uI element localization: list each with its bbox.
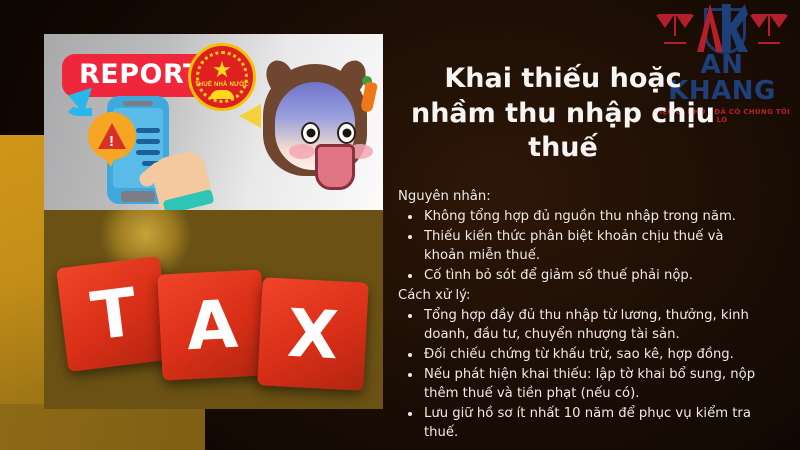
scale-pan — [770, 15, 788, 28]
gold-accent-bar-left — [0, 135, 44, 450]
character-pupil — [342, 129, 351, 138]
tax-declaration-illustration: REPORT ★ THUẾ NHÀ NƯỚC ! — [44, 34, 383, 210]
solutions-list: Tổng hợp đầy đủ thu nhập từ lương, thưởn… — [398, 307, 758, 442]
scale-pan — [750, 15, 768, 28]
slide-canvas: REPORT ★ THUẾ NHÀ NƯỚC ! — [0, 0, 800, 450]
solutions-heading: Cách xử lý: — [398, 287, 758, 306]
page-title: Khai thiếu hoặc nhầm thu nhập chịu thuế — [398, 62, 728, 166]
causes-list: Không tổng hợp đủ nguồn thu nhập trong n… — [398, 208, 758, 286]
character-face — [275, 82, 355, 170]
character-eye-left — [301, 122, 320, 144]
causes-heading: Nguyên nhân: — [398, 188, 758, 207]
illustration-panel: REPORT ★ THUẾ NHÀ NƯỚC ! — [44, 34, 383, 409]
list-item: Tổng hợp đầy đủ thu nhập từ lương, thưởn… — [422, 307, 758, 345]
warning-exclamation: ! — [109, 134, 114, 149]
character-open-mouth — [315, 144, 355, 190]
scales-of-justice-left-icon — [658, 10, 692, 48]
tax-block-letter: T — [56, 256, 172, 372]
warning-alert-icon: ! — [88, 112, 136, 160]
list-item: Lưu giữ hồ sơ ít nhất 10 năm để phục vụ … — [422, 405, 758, 443]
scales-of-justice-right-icon — [752, 10, 786, 48]
shock-spark-icon — [239, 104, 261, 128]
emblem-label: THUẾ NHÀ NƯỚC — [191, 82, 253, 88]
phone-home-button — [121, 191, 155, 202]
hand-sleeve-cuff — [163, 189, 215, 210]
content-body: Nguyên nhân: Không tổng hợp đủ nguồn thu… — [398, 188, 758, 443]
tax-block-letter: X — [257, 277, 369, 390]
tax-blocks-photo: T A X — [44, 210, 383, 409]
document-line — [136, 139, 160, 144]
character-pupil — [306, 129, 315, 138]
warning-bubble-tail — [102, 155, 116, 167]
scale-pan — [676, 15, 694, 28]
logo-mark — [652, 4, 792, 54]
character-eye-right — [337, 122, 356, 144]
scale-base — [664, 42, 686, 44]
list-item: Đối chiếu chứng từ khấu trừ, sao kê, hợp… — [422, 346, 758, 365]
list-item: Thiếu kiến thức phân biệt khoản chịu thu… — [422, 228, 758, 266]
scale-base — [758, 42, 780, 44]
list-item: Nếu phát hiện khai thiếu: lập tờ khai bổ… — [422, 366, 758, 404]
scale-post — [674, 14, 676, 36]
scale-pan — [656, 15, 674, 28]
shocked-character-illustration — [253, 64, 379, 210]
list-item: Cố tình bỏ sót để giảm số thuế phải nộp. — [422, 267, 758, 286]
character-blush-left — [289, 144, 315, 159]
carrot-icon — [360, 81, 378, 113]
document-line — [136, 150, 160, 155]
emblem-gear-icon — [210, 90, 234, 99]
emblem-star-icon: ★ — [212, 59, 232, 81]
gold-accent-bar-bottom — [0, 404, 205, 450]
scale-post — [768, 14, 770, 36]
state-tax-emblem-icon: ★ THUẾ NHÀ NƯỚC — [188, 43, 256, 111]
phone-speaker — [123, 101, 153, 106]
tax-block-letter: A — [157, 269, 266, 380]
list-item: Không tổng hợp đủ nguồn thu nhập trong n… — [422, 208, 758, 227]
document-line — [136, 128, 160, 133]
